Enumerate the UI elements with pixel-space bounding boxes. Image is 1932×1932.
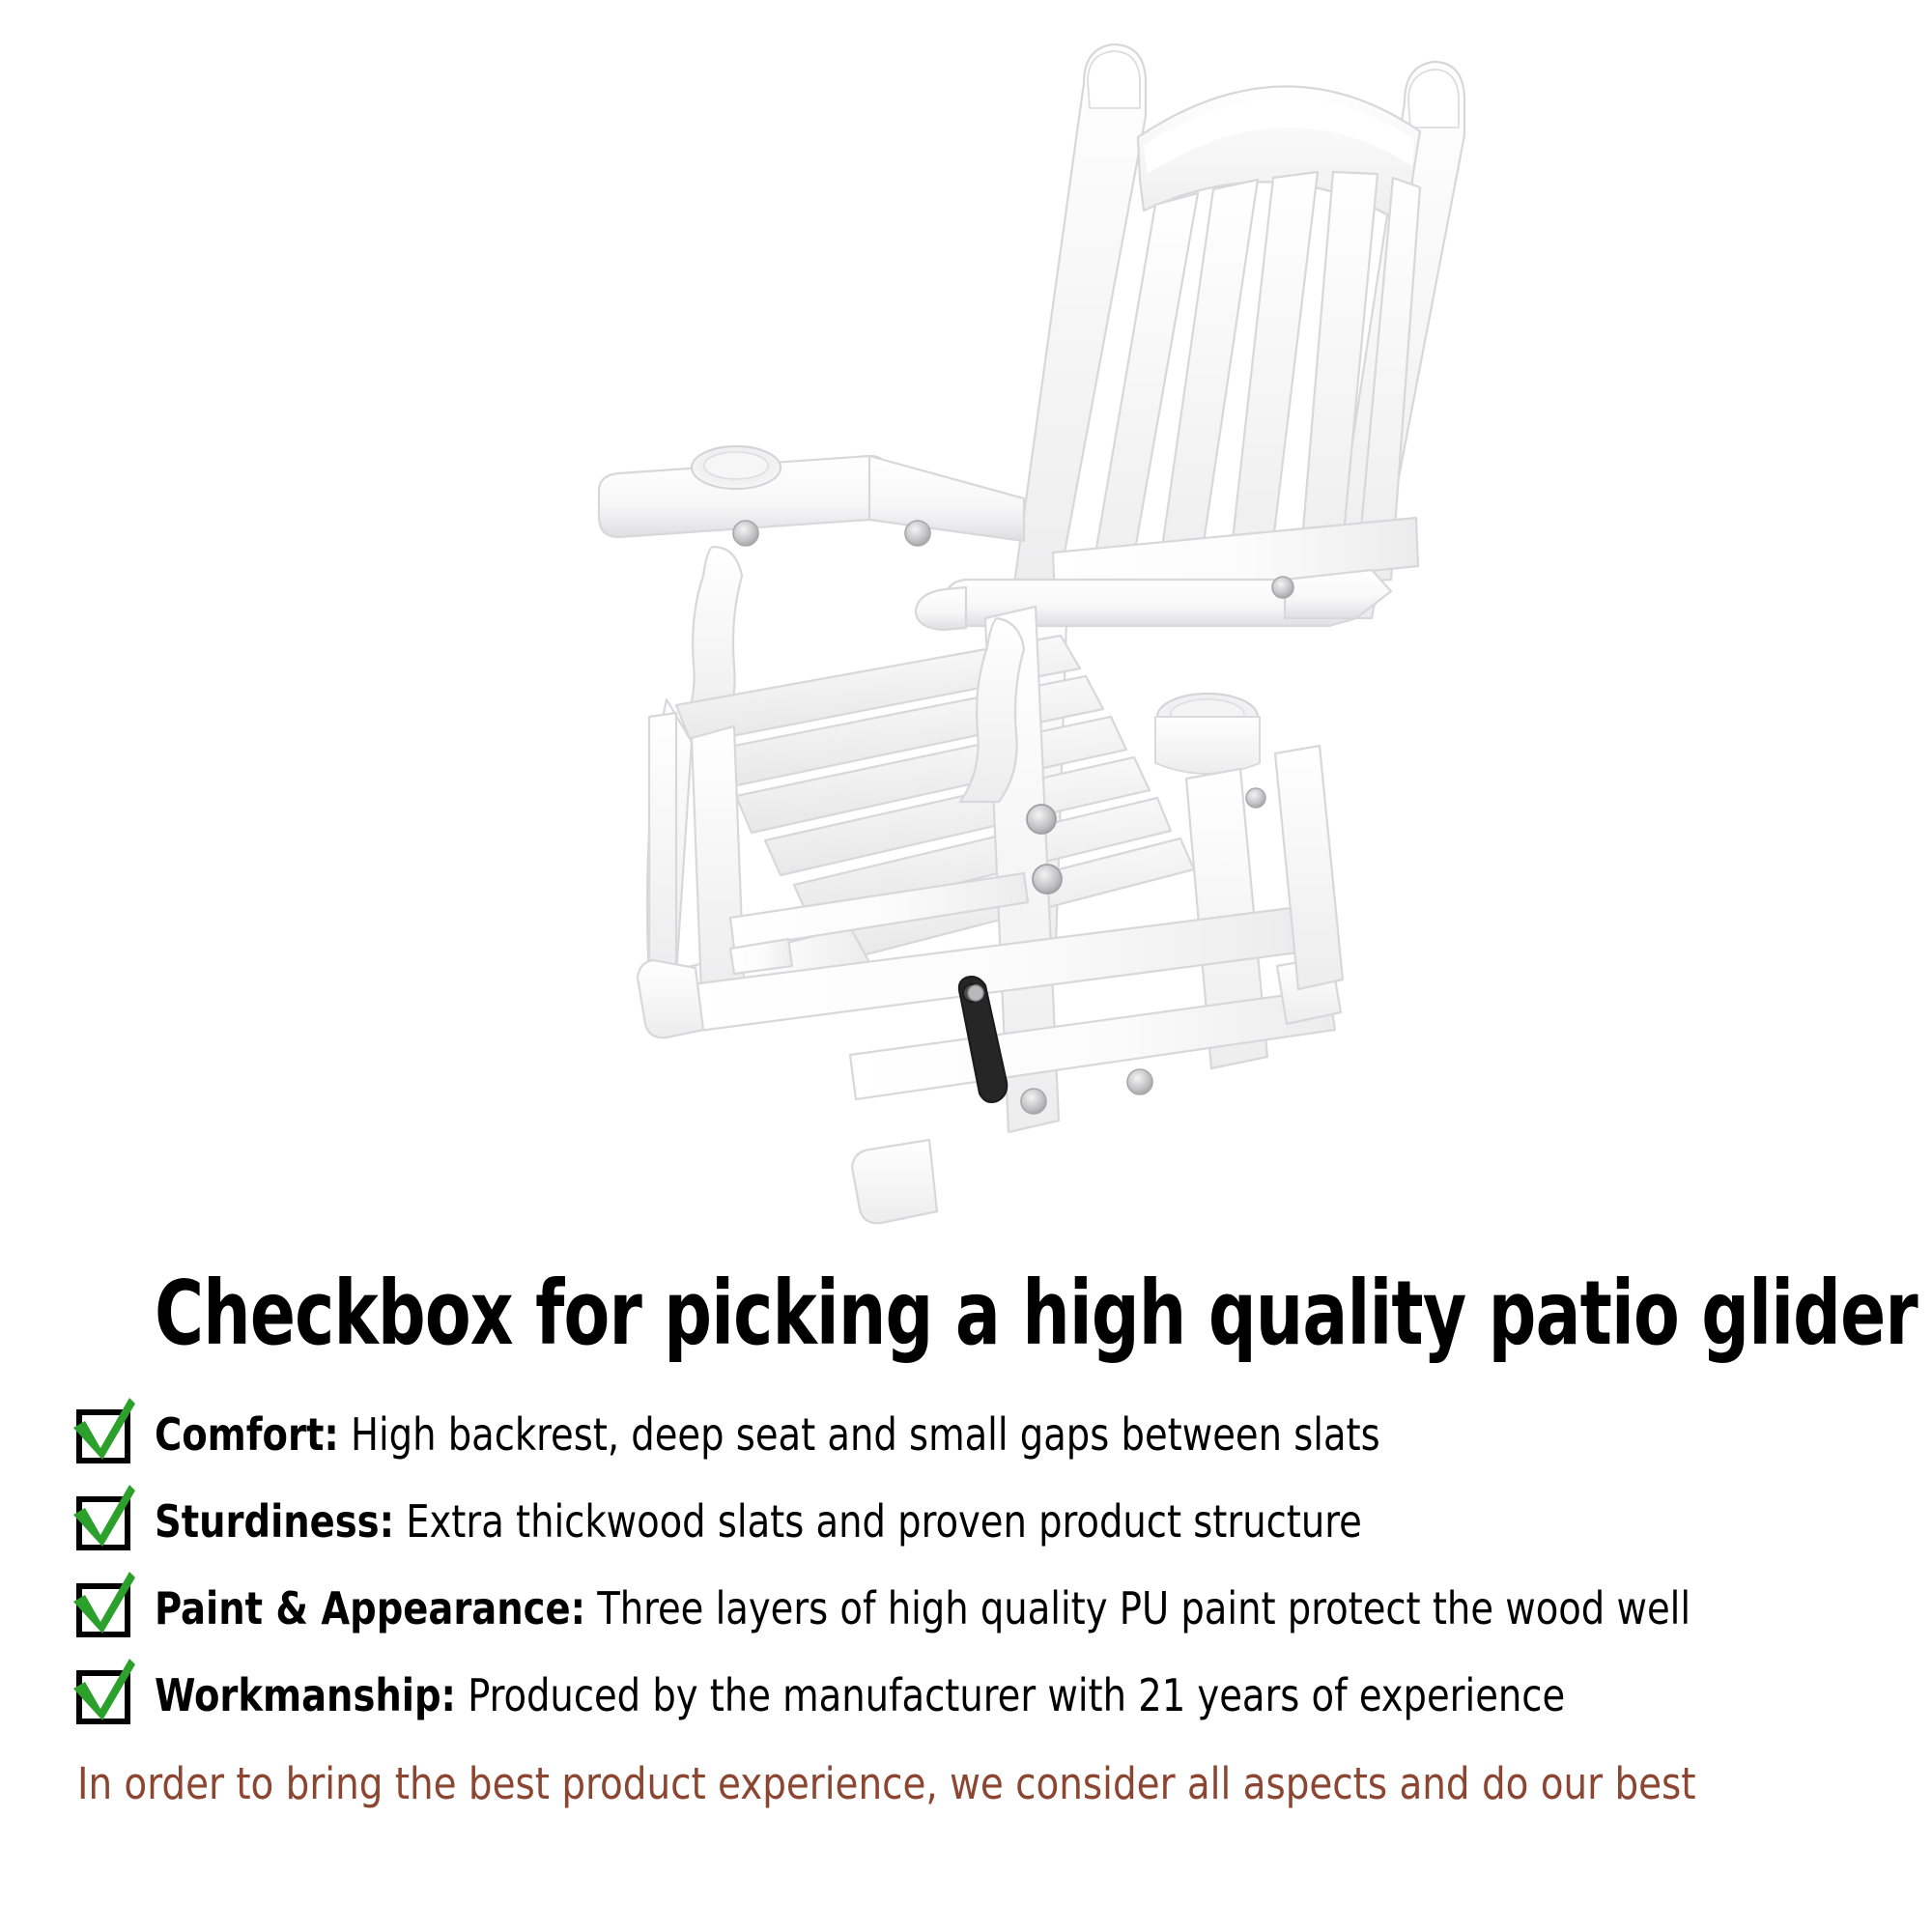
feature-lead: Workmanship: bbox=[155, 1669, 456, 1721]
feature-text: Sturdiness: Extra thickwood slats and pr… bbox=[155, 1496, 1362, 1547]
checked-checkbox-icon[interactable] bbox=[77, 1496, 128, 1547]
feature-body: High backrest, deep seat and small gaps … bbox=[339, 1408, 1380, 1461]
feature-body: Three layers of high quality PU paint pr… bbox=[585, 1582, 1690, 1634]
feature-row-paint-appearance: Paint & Appearance: Three layers of high… bbox=[0, 1565, 1932, 1652]
feature-text: Comfort: High backrest, deep seat and sm… bbox=[155, 1409, 1380, 1460]
feature-body: Extra thickwood slats and proven product… bbox=[394, 1495, 1362, 1548]
feature-lead: Paint & Appearance: bbox=[155, 1582, 585, 1634]
copy-block: Checkbox for picking a high quality pati… bbox=[0, 1246, 1932, 1932]
feature-body: Produced by the manufacturer with 21 yea… bbox=[456, 1669, 1565, 1721]
product-infographic-page: Checkbox for picking a high quality pati… bbox=[0, 0, 1932, 1932]
feature-text: Paint & Appearance: Three layers of high… bbox=[155, 1583, 1690, 1634]
feature-row-comfort: Comfort: High backrest, deep seat and sm… bbox=[0, 1391, 1932, 1478]
feature-row-sturdiness: Sturdiness: Extra thickwood slats and pr… bbox=[0, 1478, 1932, 1565]
patio-glider-chair-photo bbox=[0, 0, 1932, 1246]
feature-text: Workmanship: Produced by the manufacture… bbox=[155, 1670, 1565, 1720]
checked-checkbox-icon[interactable] bbox=[77, 1409, 128, 1460]
feature-lead: Sturdiness: bbox=[155, 1495, 394, 1548]
checked-checkbox-icon[interactable] bbox=[77, 1583, 128, 1634]
feature-list: Comfort: High backrest, deep seat and sm… bbox=[0, 1391, 1932, 1739]
footer-note: In order to bring the best product exper… bbox=[77, 1758, 1821, 1810]
checked-checkbox-icon[interactable] bbox=[77, 1670, 128, 1720]
page-title: Checkbox for picking a high quality pati… bbox=[155, 1267, 1777, 1360]
product-photo bbox=[0, 0, 1932, 1246]
feature-lead: Comfort: bbox=[155, 1408, 339, 1461]
feature-row-workmanship: Workmanship: Produced by the manufacture… bbox=[0, 1652, 1932, 1739]
